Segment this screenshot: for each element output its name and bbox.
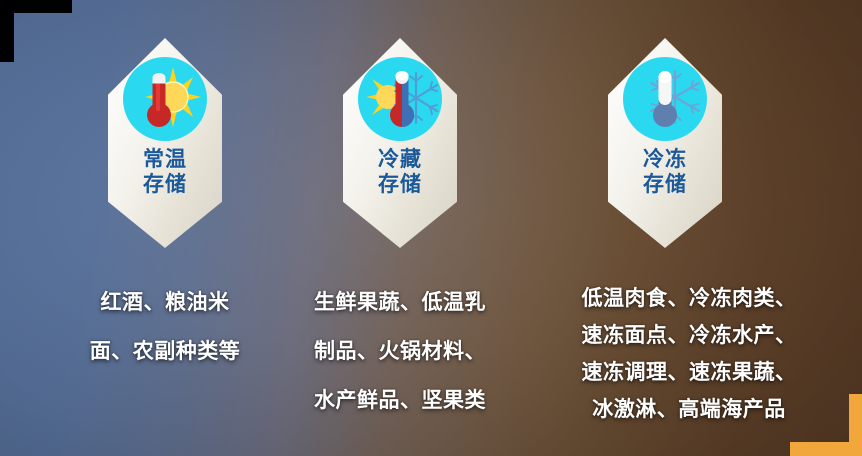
corner-bracket-vertical-bar [849,394,862,456]
badge-content: 冷冻 存储 [608,38,722,248]
slide-canvas: 常温 存储 红酒、粮油米 面、农副种类等 [0,0,862,456]
description-line: 生鲜果蔬、低温乳 [276,278,524,327]
corner-bracket-vertical-bar [0,0,14,62]
badge-title-chilled: 冷藏 存储 [378,147,422,197]
badge-content: 冷藏 存储 [343,38,457,248]
description-line: 红酒、粮油米 [40,278,290,327]
badge-title-line-2: 存储 [643,172,687,197]
thermometer-sun-snowflake-icon [358,57,442,141]
description-line: 低温肉食、冷冻肉类、 [536,280,842,317]
thermometer-snowflake-icon [623,57,707,141]
description-chilled: 生鲜果蔬、低温乳 制品、火锅材料、 水产鲜品、坚果类 [276,278,524,425]
description-line: 冰激淋、高端海产品 [536,391,842,428]
description-line: 速冻面点、冷冻水产、 [536,317,842,354]
badge-title-line-2: 存储 [378,172,422,197]
badge-title-line-1: 冷冻 [643,147,687,172]
description-line: 面、农副种类等 [40,327,290,376]
badge-title-ambient: 常温 存储 [143,147,187,197]
badge-chilled[interactable]: 冷藏 存储 [343,38,457,248]
description-line: 制品、火锅材料、 [276,327,524,376]
thermometer-sun-icon [123,57,207,141]
top-left-corner-bracket [0,0,72,62]
description-line: 水产鲜品、坚果类 [276,376,524,425]
badge-title-frozen: 冷冻 存储 [643,147,687,197]
badge-title-line-2: 存储 [143,172,187,197]
corner-bracket-horizontal-bar [0,0,72,13]
badge-ambient[interactable]: 常温 存储 [108,38,222,248]
badge-title-line-1: 常温 [143,147,187,172]
corner-bracket-horizontal-bar [790,442,862,456]
description-frozen: 低温肉食、冷冻肉类、 速冻面点、冷冻水产、 速冻调理、速冻果蔬、 冰激淋、高端海… [536,280,842,428]
badge-content: 常温 存储 [108,38,222,248]
badge-title-line-1: 冷藏 [378,147,422,172]
badge-frozen[interactable]: 冷冻 存储 [608,38,722,248]
description-ambient: 红酒、粮油米 面、农副种类等 [40,278,290,376]
description-line: 速冻调理、速冻果蔬、 [536,354,842,391]
